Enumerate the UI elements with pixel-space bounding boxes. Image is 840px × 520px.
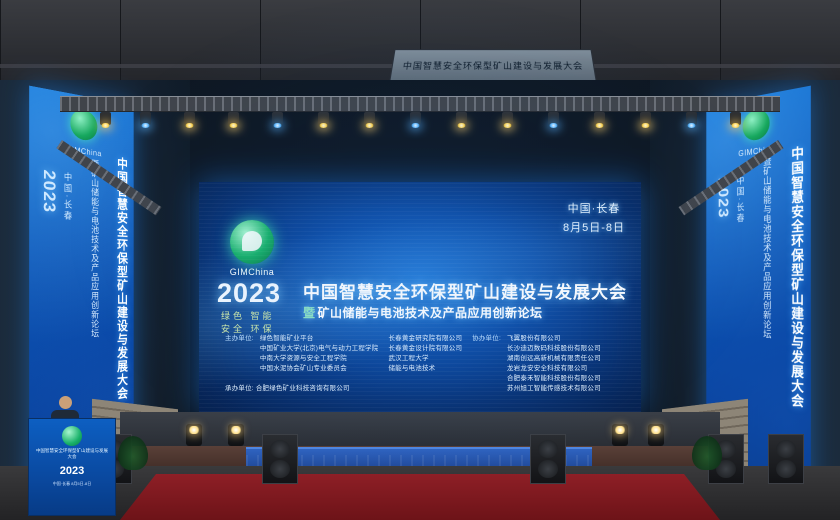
stage-lamp — [686, 112, 697, 125]
organizer-label: 承办单位: — [225, 385, 254, 392]
moving-head-light — [612, 424, 628, 446]
screen-dates: 8月5日-8日 — [563, 219, 625, 238]
subtitle-text: 矿山储能与电池技术及产品应用创新论坛 — [318, 306, 543, 320]
stage-lamp — [456, 112, 467, 125]
conference-stage-photo: 中国智慧安全环保型矿山建设与发展大会 GIMChina 2023 中国·长春 中… — [0, 0, 840, 520]
potted-plant — [118, 436, 148, 470]
subtitle-lead: 暨 — [303, 306, 316, 320]
credit-item: 储能与电池技术 — [388, 364, 462, 374]
credits-list: 飞翼股份有限公司 长沙迪迈数码科技股份有限公司 湖南创远高新机械有限责任公司 龙… — [507, 334, 601, 394]
stage-lamp — [548, 112, 559, 125]
truss-top — [60, 96, 780, 112]
stage-lamp — [640, 112, 651, 125]
stage-lamp — [410, 112, 421, 125]
banner-city: 中国·长春 — [62, 171, 74, 222]
banner-year: 2023 — [39, 169, 58, 214]
credit-item: 中南大学资源与安全工程学院 — [260, 354, 379, 364]
screen-slogan-line1: 绿色 智能 — [221, 309, 275, 322]
ceiling-display: 中国智慧安全环保型矿山建设与发展大会 — [389, 49, 596, 81]
speaker-stack — [530, 434, 566, 484]
banner-city: 中国·长春 — [735, 175, 746, 224]
potted-plant — [692, 436, 722, 470]
poster-footer: 中国·长春 8月5日-8日 — [29, 481, 115, 487]
person-head — [59, 396, 72, 409]
screen-year: 2023 — [217, 278, 281, 309]
organizer-name: 合肥绿色矿业科技咨询有限公司 — [256, 385, 350, 392]
stage-lamp — [228, 112, 239, 125]
speaker-stack — [768, 434, 804, 484]
screen-event-subtitle: 暨矿山储能与电池技术及产品应用创新论坛 — [303, 304, 543, 321]
screen-organizer: 承办单位: 合肥绿色矿业科技咨询有限公司 — [225, 382, 350, 392]
screen-logo-name: GIMChina — [221, 267, 283, 277]
red-carpet — [120, 474, 720, 520]
credit-item: 长沙迪迈数码科技股份有限公司 — [507, 344, 601, 354]
stage-lamp — [502, 112, 513, 125]
credit-item: 湖南创远高新机械有限责任公司 — [507, 354, 601, 364]
stage-lamp — [184, 112, 195, 125]
stage-lamp — [730, 112, 741, 125]
stage-lamp — [594, 112, 605, 125]
moving-head-light — [228, 424, 244, 446]
gim-logo-icon — [743, 108, 770, 142]
credits-group: 协办单位: 飞翼股份有限公司 长沙迪迈数码科技股份有限公司 湖南创远高新机械有限… — [472, 334, 601, 394]
credit-item: 长春黄金研究院有限公司 — [388, 334, 462, 344]
credit-item: 龙岩龙安安全科技有限公司 — [507, 364, 601, 374]
credit-item: 武汉工程大学 — [388, 354, 462, 364]
stage-lamp — [364, 112, 375, 125]
poster-title: 中国智慧安全环保型矿山建设与发展大会 — [29, 448, 115, 460]
credit-item: 飞翼股份有限公司 — [507, 334, 601, 344]
main-led-screen: 中国·长春 8月5日-8日 GIMChina 2023 绿色 智能 安全 环保 … — [199, 182, 641, 412]
screen-logo: GIMChina — [221, 220, 283, 277]
stage-lamp — [318, 112, 329, 125]
credits-list: 长春黄金研究院有限公司 长春黄金设计院有限公司 武汉工程大学 储能与电池技术 — [388, 334, 462, 394]
credit-item: 长春黄金设计院有限公司 — [388, 344, 462, 354]
stage-lamp — [272, 112, 283, 125]
credit-item: 合肥泰禾智能科技股份有限公司 — [507, 374, 601, 384]
event-poster: 中国智慧安全环保型矿山建设与发展大会 2023 中国·长春 8月5日-8日 — [28, 418, 116, 516]
screen-city: 中国·长春 — [563, 200, 625, 219]
stage-lamp — [140, 112, 151, 125]
gim-logo-icon — [62, 426, 82, 446]
moving-head-light — [186, 424, 202, 446]
stage-lamp — [100, 112, 111, 125]
credit-item: 绿色智能矿业平台 — [260, 334, 379, 344]
banner-subtitle: 暨矿山储能与电池技术及产品应用创新论坛 — [761, 156, 773, 461]
credits-group: 长春黄金研究院有限公司 长春黄金设计院有限公司 武汉工程大学 储能与电池技术 — [388, 334, 462, 394]
screen-city-date: 中国·长春 8月5日-8日 — [563, 200, 625, 238]
credit-item: 中国矿业大学(北京)电气与动力工程学院 — [260, 344, 379, 354]
speaker-stack — [262, 434, 298, 484]
credit-item: 中国水泥协会矿山专业委员会 — [260, 364, 379, 374]
gim-logo-icon — [70, 108, 97, 142]
credit-item: 苏州旭工智能传感技术有限公司 — [507, 384, 601, 394]
screen-event-title: 中国智慧安全环保型矿山建设与发展大会 — [303, 278, 627, 303]
poster-year: 2023 — [29, 465, 115, 477]
gim-logo-icon — [230, 220, 274, 264]
credits-label: 协办单位: — [472, 334, 501, 394]
moving-head-light — [648, 424, 664, 446]
